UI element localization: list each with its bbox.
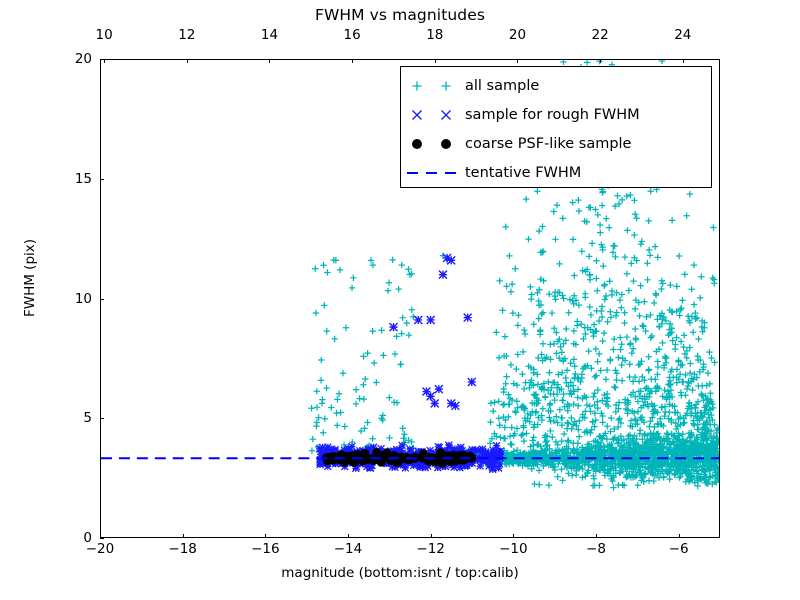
x-tick-label-bottom: −18 [168,541,197,557]
y-axis-label: FWHM (pix) [22,68,38,488]
tick-mark [187,59,188,63]
legend-label: coarse PSF-like sample [465,136,631,152]
figure-root: FWHM vs magnitudes magnitude (bottom:isn… [0,0,800,600]
cross-icon [401,100,465,129]
tick-mark [517,59,518,63]
x-tick-label-top: 22 [592,27,609,43]
x-tick-label-top: 14 [261,27,278,43]
tick-mark [435,59,436,63]
legend-item[interactable]: all sample [401,71,711,100]
x-tick-label-top: 16 [344,27,361,43]
legend-box: all samplesample for rough FWHMcoarse PS… [400,66,712,188]
legend-item[interactable]: tentative FWHM [401,158,711,187]
y-tick-label: 0 [58,530,92,546]
tick-mark [265,534,266,538]
tick-mark [513,534,514,538]
x-tick-label-top: 18 [426,27,443,43]
legend-item[interactable]: sample for rough FWHM [401,100,711,129]
tick-mark [431,534,432,538]
x-axis-label: magnitude (bottom:isnt / top:calib) [0,565,800,581]
tick-mark [269,59,270,63]
tick-mark [683,59,684,63]
y-tick-label: 10 [58,291,92,307]
y-tick-label: 5 [58,410,92,426]
circle-icon [401,129,465,158]
legend-item[interactable]: coarse PSF-like sample [401,129,711,158]
chart-title: FWHM vs magnitudes [0,6,800,24]
x-tick-label-bottom: −10 [499,541,528,557]
x-tick-label-bottom: −12 [416,541,445,557]
tick-mark [596,534,597,538]
x-tick-label-bottom: −8 [586,541,606,557]
plus-icon [401,71,465,100]
tick-mark [352,59,353,63]
x-tick-label-top: 12 [178,27,195,43]
x-tick-label-bottom: −14 [334,541,363,557]
tick-mark [100,179,104,180]
tick-mark [100,299,104,300]
y-tick-label: 15 [58,171,92,187]
y-tick-label: 20 [58,51,92,67]
legend-label: sample for rough FWHM [465,107,640,123]
tick-mark [183,534,184,538]
dashed-line-icon [401,158,465,187]
tick-mark [100,59,104,60]
x-tick-label-bottom: −6 [669,541,689,557]
tick-mark [100,418,104,419]
x-tick-label-top: 24 [674,27,691,43]
x-tick-label-top: 20 [509,27,526,43]
tick-mark [600,59,601,63]
x-tick-label-bottom: −16 [251,541,280,557]
y-axis-ticklabels: 05101520 [58,0,92,600]
tick-mark [348,534,349,538]
legend-label: tentative FWHM [465,165,581,181]
x-tick-label-top: 10 [96,27,113,43]
tick-mark [104,59,105,63]
legend-label: all sample [465,78,539,94]
tick-mark [679,534,680,538]
tick-mark [100,538,104,539]
